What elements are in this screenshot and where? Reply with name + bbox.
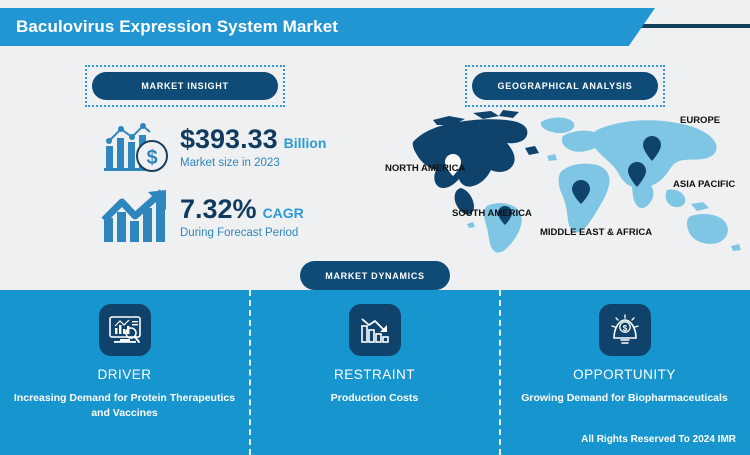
page-title: Baculovirus Expression System Market [0,17,338,37]
svg-text:$: $ [146,147,157,169]
bar-chart-dollar-icon: $ [100,118,174,176]
market-size-caption: Market size in 2023 [180,157,326,169]
restraint-title: RESTRAINT [334,367,415,382]
geographical-analysis-badge-pill: GEOGRAPHICAL ANALYSIS [472,72,658,100]
analytics-monitor-search-icon [99,304,151,356]
map-label-europe: EUROPE [680,115,720,126]
growth-arrow-icon [100,188,174,246]
market-size-texts: $393.33 Billion Market size in 2023 [180,125,326,169]
market-dynamics-badge-label: MARKET DYNAMICS [325,271,425,281]
copyright-text: All Rights Reserved To 2024 IMR [581,434,736,445]
market-insight-badge-pill: MARKET INSIGHT [92,72,278,100]
market-size-value: $393.33 [180,125,278,153]
dynamics-column-driver: DRIVER Increasing Demand for Protein The… [0,290,249,455]
market-size-main: $393.33 Billion [180,125,326,153]
opportunity-description: Growing Demand for Biopharmaceuticals [521,391,728,406]
geographical-analysis-badge-label: GEOGRAPHICAL ANALYSIS [498,81,633,91]
header-banner: Baculovirus Expression System Market [0,8,655,46]
market-size-unit: Billion [284,135,327,151]
restraint-description: Production Costs [331,391,419,406]
map-label-middle-east-africa: MIDDLE EAST & AFRICA [540,227,652,238]
infographic-page: Baculovirus Expression System Market MAR… [0,0,750,455]
map-label-asia-pacific: ASIA PACIFIC [673,179,735,190]
market-insight-badge: MARKET INSIGHT [85,65,285,107]
market-size-stat: $ $393.33 Billion Market size in 2023 [100,118,326,176]
map-label-south-america: SOUTH AMERICA [452,208,532,219]
driver-description: Increasing Demand for Protein Therapeuti… [12,391,237,421]
declining-bar-chart-icon [349,304,401,356]
cagr-texts: 7.32% CAGR During Forecast Period [180,195,304,239]
driver-title: DRIVER [97,367,151,382]
dynamics-column-restraint: RESTRAINT Production Costs [250,290,499,455]
dynamics-column-opportunity: $ OPPORTUNITY Growing Demand for Biop [500,290,749,455]
svg-text:$: $ [622,324,627,333]
geographical-analysis-badge: GEOGRAPHICAL ANALYSIS [465,65,665,107]
header: Baculovirus Expression System Market [0,8,750,46]
lightbulb-dollar-icon: $ [599,304,651,356]
cagr-stat: 7.32% CAGR During Forecast Period [100,188,304,246]
cagr-unit: CAGR [263,205,304,221]
market-dynamics-panel: DRIVER Increasing Demand for Protein The… [0,290,750,455]
opportunity-title: OPPORTUNITY [573,367,676,382]
cagr-main: 7.32% CAGR [180,195,304,223]
market-dynamics-badge: MARKET DYNAMICS [300,261,450,290]
market-insight-badge-label: MARKET INSIGHT [141,81,228,91]
cagr-caption: During Forecast Period [180,227,304,239]
map-label-north-america: NORTH AMERICA [385,163,465,174]
cagr-value: 7.32% [180,195,257,223]
